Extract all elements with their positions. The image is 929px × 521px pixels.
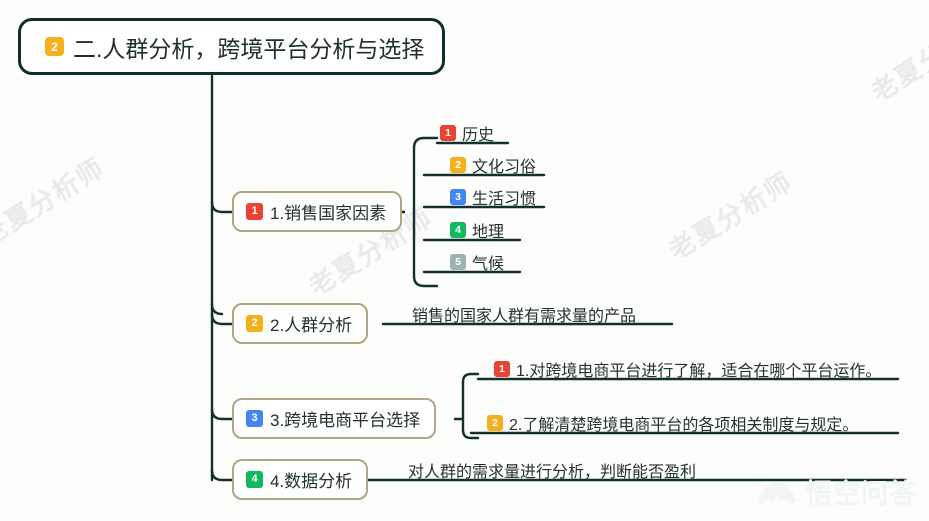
leaf-badge: 3 xyxy=(450,189,466,205)
leaf-item[interactable]: 5 气候 xyxy=(450,250,504,277)
leaf-item[interactable]: 3 生活习惯 xyxy=(450,185,536,212)
watermark-text: 老夏分析师 xyxy=(661,162,799,268)
root-node-label: 二.人群分析，跨境平台分析与选择 xyxy=(73,30,424,64)
leaf-label: 销售的国家人群有需求量的产品 xyxy=(412,302,636,326)
node-badge: 1 xyxy=(246,203,263,220)
brand-label: 悟空问答 xyxy=(805,472,917,511)
leaf-item[interactable]: 对人群的需求量进行分析，判断能否盈利 xyxy=(408,458,696,485)
leaf-item[interactable]: 销售的国家人群有需求量的产品 xyxy=(412,302,636,329)
leaf-item[interactable]: 2 文化习俗 xyxy=(450,153,536,180)
leaf-item[interactable]: 1 1.对跨境电商平台进行了解，适合在哪个平台运作。 xyxy=(494,357,881,384)
leaf-label: 对人群的需求量进行分析，判断能否盈利 xyxy=(408,458,696,482)
leaf-badge: 1 xyxy=(440,125,456,141)
leaf-badge: 2 xyxy=(487,415,503,431)
branch-node-label: 3.跨境电商平台选择 xyxy=(270,406,420,431)
leaf-label: 1.对跨境电商平台进行了解，适合在哪个平台运作。 xyxy=(516,357,881,381)
branch-node-4[interactable]: 4 4.数据分析 xyxy=(232,459,368,500)
leaf-item[interactable]: 1 历史 xyxy=(440,121,494,148)
wukong-cloud-icon xyxy=(757,479,797,505)
watermark-text: 老夏分析师 xyxy=(0,148,111,254)
leaf-item[interactable]: 4 地理 xyxy=(450,218,504,245)
branch-node-2[interactable]: 2 2.人群分析 xyxy=(232,303,368,344)
watermark-text: 老夏分析师 xyxy=(863,4,929,110)
leaf-badge: 1 xyxy=(494,361,510,377)
leaf-label: 2.了解清楚跨境电商平台的各项相关制度与规定。 xyxy=(509,411,858,435)
root-node[interactable]: 2 二.人群分析，跨境平台分析与选择 xyxy=(18,18,445,75)
branch-node-3[interactable]: 3 3.跨境电商平台选择 xyxy=(232,398,436,439)
leaf-label: 文化习俗 xyxy=(472,153,536,177)
node-badge: 2 xyxy=(45,37,64,56)
branch-node-label: 1.销售国家因素 xyxy=(270,199,386,224)
branch-node-1[interactable]: 1 1.销售国家因素 xyxy=(232,191,402,232)
leaf-badge: 2 xyxy=(450,157,466,173)
leaf-item[interactable]: 2 2.了解清楚跨境电商平台的各项相关制度与规定。 xyxy=(487,411,858,438)
node-badge: 3 xyxy=(246,410,263,427)
branch-node-label: 4.数据分析 xyxy=(270,467,352,492)
leaf-badge: 4 xyxy=(450,222,466,238)
node-badge: 4 xyxy=(246,471,263,488)
leaf-label: 气候 xyxy=(472,250,504,274)
leaf-label: 生活习惯 xyxy=(472,185,536,209)
branch-node-label: 2.人群分析 xyxy=(270,311,352,336)
leaf-badge: 5 xyxy=(450,254,466,270)
leaf-label: 地理 xyxy=(472,218,504,242)
brand-watermark: 悟空问答 xyxy=(757,472,917,511)
leaf-label: 历史 xyxy=(462,121,494,145)
node-badge: 2 xyxy=(246,315,263,332)
mindmap-canvas: 老夏分析师 老夏分析师 老夏分析师 老夏分析师 xyxy=(0,0,929,521)
